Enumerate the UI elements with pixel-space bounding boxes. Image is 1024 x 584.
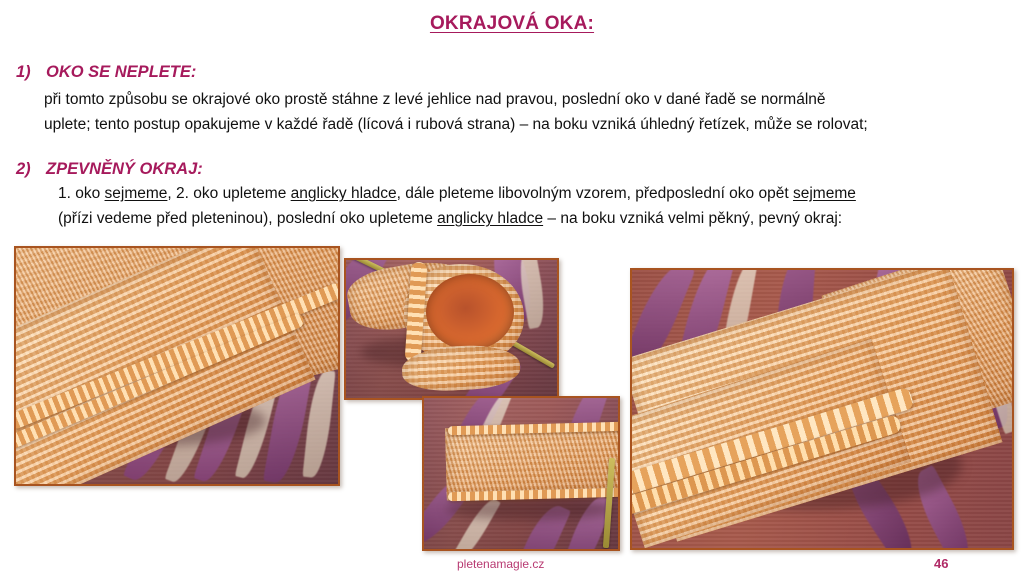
page-title: OKRAJOVÁ OKA: <box>0 13 1024 35</box>
item-2-underlined-sejmeme-1: sejmeme <box>105 185 168 202</box>
photo-3-scene <box>424 398 618 549</box>
list-item-2-title: ZPEVNĚNÝ OKRAJ: <box>46 160 203 178</box>
item-2-line-1-part-b: , 2. oko upleteme <box>167 185 290 202</box>
item-2-line-2-part-a: (přízi vedeme před pleteninou), poslední… <box>58 210 437 227</box>
list-item-2-number: 2) <box>16 160 46 179</box>
photo-4-scene <box>632 270 1012 548</box>
list-item-1-body: při tomto způsobu se okrajové oko prostě… <box>44 87 1012 137</box>
footer-page-number: 46 <box>934 556 948 571</box>
photo-knit-strip <box>422 396 620 551</box>
item-2-underlined-sejmeme-2: sejmeme <box>793 185 856 202</box>
item-2-line-1-part-c: , dále pleteme libovolným vzorem, předpo… <box>397 185 793 202</box>
photo-2-scene <box>346 260 557 398</box>
list-item-2-body: 1. oko sejmeme, 2. oko upleteme anglicky… <box>58 181 1012 231</box>
list-item-2-heading: 2)ZPEVNĚNÝ OKRAJ: <box>16 160 203 179</box>
list-item-1-heading: 1)OKO SE NEPLETE: <box>16 63 196 82</box>
item-1-line-2: uplete; tento postup opakujeme v každé ř… <box>44 116 868 133</box>
list-item-1-number: 1) <box>16 63 46 82</box>
photo-knit-chain-edge <box>14 246 340 486</box>
list-item-1-title: OKO SE NEPLETE: <box>46 63 196 81</box>
item-2-underlined-anglicky-hladce-2: anglicky hladce <box>437 210 543 227</box>
photo-1-scene <box>16 248 338 484</box>
item-2-line-1-part-a: 1. oko <box>58 185 105 202</box>
item-2-line-2-part-b: – na boku vzniká velmi pěkný, pevný okra… <box>543 210 842 227</box>
footer-website: pletenamagie.cz <box>457 557 544 571</box>
item-2-underlined-anglicky-hladce-1: anglicky hladce <box>291 185 397 202</box>
knit-inner-shadow <box>426 274 514 350</box>
item-1-line-1: při tomto způsobu se okrajové oko prostě… <box>44 91 826 108</box>
photo-large-knit-swatch <box>630 268 1014 550</box>
photo-3-shadow <box>446 498 616 520</box>
photo-rolled-knit-with-needle <box>344 258 559 400</box>
